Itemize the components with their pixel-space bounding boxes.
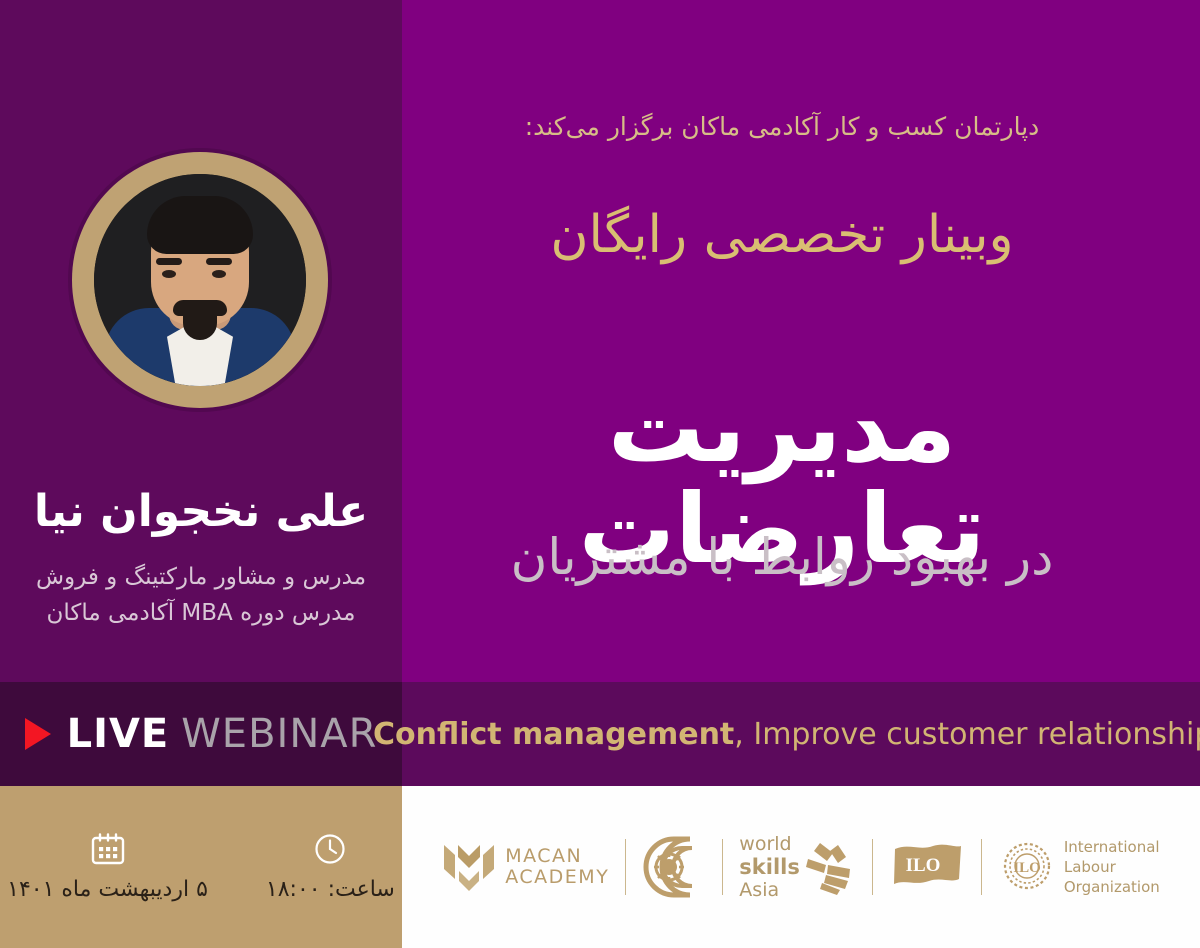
calendar-icon [91, 833, 125, 865]
worldskills-text: world skills Asia [739, 833, 800, 901]
macan-line-2: ACADEMY [505, 867, 609, 888]
macan-line-1: MACAN [505, 846, 609, 867]
ilo-wreath-icon: ILO [998, 839, 1056, 895]
speaker-name: علی نخجوان نیا [0, 486, 402, 537]
macan-m-icon [442, 841, 496, 893]
speaker-roles: مدرس و مشاور مارکتینگ و فروش مدرس دوره M… [0, 560, 402, 631]
circular-emblem-icon [642, 836, 706, 898]
macan-academy-logo: MACAN ACADEMY [426, 832, 625, 902]
ilo-line-2: Labour [1064, 857, 1160, 877]
ilo-organization-logo: ILO International Labour Organization [982, 832, 1176, 902]
ilo-flag-icon: ILO [889, 839, 965, 895]
live-label: LIVE [67, 711, 170, 757]
page-subtitle: در بهبود روابط با مشتریان [402, 528, 1162, 586]
free-webinar-label: وبینار تخصصی رایگان [402, 205, 1162, 265]
webinar-label: WEBINAR [181, 711, 377, 757]
worldskills-line-2: skills [739, 855, 800, 879]
speaker-avatar [72, 152, 328, 408]
ilo-flag-logo: ILO [873, 832, 981, 902]
time-label: ساعت: ۱۸:۰۰ [266, 877, 395, 902]
english-tagline: Conflict management, Improve customer re… [402, 682, 1200, 786]
ilo-line-3: Organization [1064, 877, 1160, 897]
ilo-line-1: International [1064, 837, 1160, 857]
partner-logos: MACAN ACADEMY [402, 786, 1200, 948]
play-icon [25, 718, 51, 750]
schedule-bar: ۵ اردیبهشت ماه ۱۴۰۱ ساعت: ۱۸:۰۰ [0, 786, 402, 948]
time-block: ساعت: ۱۸:۰۰ [266, 833, 395, 902]
clock-icon [314, 833, 346, 865]
emblem-logo [626, 832, 722, 902]
worldskills-line-1: world [739, 833, 800, 855]
tagline-rest: , Improve customer relationships [734, 717, 1200, 752]
tagline-bold: Conflict management [373, 717, 734, 752]
date-block: ۵ اردیبهشت ماه ۱۴۰۱ [7, 833, 208, 902]
speaker-role-line-1: مدرس و مشاور مارکتینگ و فروش [0, 560, 402, 596]
speaker-role-line-2: مدرس دوره MBA آکادمی ماکان [0, 596, 402, 632]
ilo-emblem-text: ILO [1013, 860, 1041, 876]
worldskills-hand-icon [800, 839, 856, 895]
ilo-organization-text: International Labour Organization [1064, 837, 1160, 898]
ilo-flag-text: ILO [905, 855, 940, 876]
macan-academy-text: MACAN ACADEMY [505, 846, 609, 889]
webinar-poster: علی نخجوان نیا مدرس و مشاور مارکتینگ و ف… [0, 0, 1200, 948]
organizer-kicker: دپارتمان کسب و کار آکادمی ماکان برگزار م… [402, 112, 1162, 141]
live-webinar-strip: LIVE WEBINAR [0, 682, 402, 786]
worldskills-asia-logo: world skills Asia [723, 832, 872, 902]
date-label: ۵ اردیبهشت ماه ۱۴۰۱ [7, 877, 208, 902]
worldskills-line-3: Asia [739, 879, 800, 901]
speaker-photo [94, 174, 306, 386]
